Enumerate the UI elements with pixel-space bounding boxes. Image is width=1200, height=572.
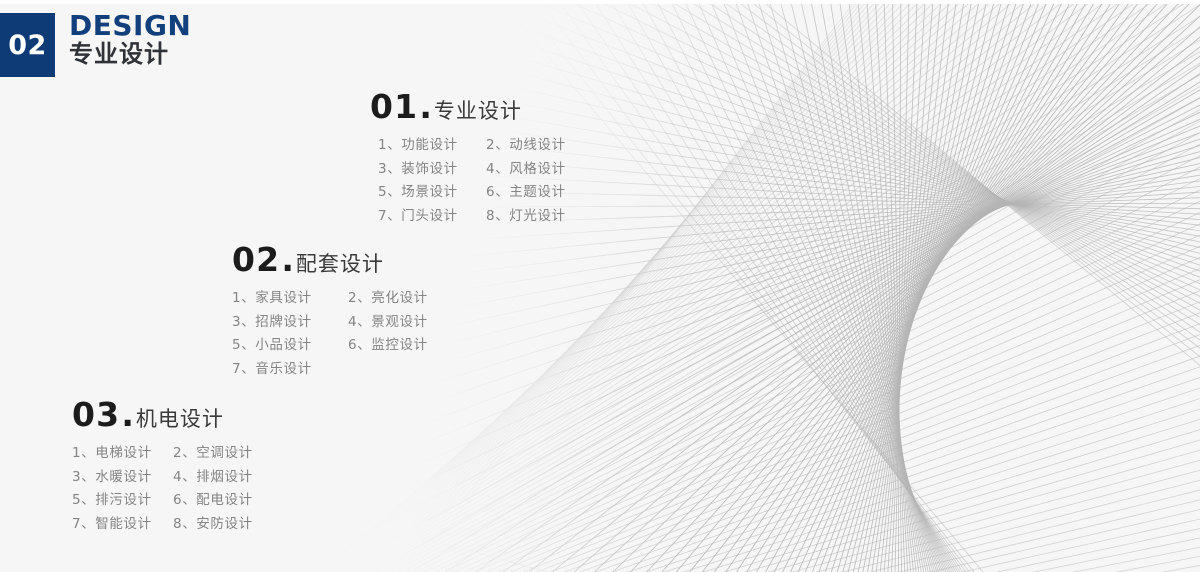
content-block-number: 01: [370, 90, 418, 123]
list-row: 7、智能设计 8、安防设计: [72, 513, 253, 537]
list-row: 1、功能设计 2、动线设计: [378, 134, 566, 158]
list-item: 7、音乐设计: [232, 358, 348, 382]
list-row: 5、小品设计 6、监控设计: [232, 334, 428, 358]
content-block-heading: 03 . 机电设计: [72, 398, 253, 431]
list-row: 1、电梯设计 2、空调设计: [72, 442, 253, 466]
list-item: 2、亮化设计: [348, 287, 428, 311]
list-row: 5、场景设计 6、主题设计: [378, 181, 566, 205]
list-item: 8、灯光设计: [486, 205, 566, 229]
list-item: 5、场景设计: [378, 181, 486, 205]
slide-canvas: 02 DESIGN 专业设计 01 . 专业设计 1、功能设计 2、动线设计 3…: [0, 0, 1200, 572]
list-item: 5、排污设计: [72, 489, 173, 513]
content-block-02: 02 . 配套设计 1、家具设计 2、亮化设计 3、招牌设计 4、景观设计 5、…: [232, 243, 428, 381]
list-row: 1、家具设计 2、亮化设计: [232, 287, 428, 311]
list-item: 4、风格设计: [486, 158, 566, 182]
content-block-list: 1、功能设计 2、动线设计 3、装饰设计 4、风格设计 5、场景设计 6、主题设…: [370, 134, 566, 228]
list-item: 3、水暖设计: [72, 466, 173, 490]
list-item: 5、小品设计: [232, 334, 348, 358]
content-block-separator: .: [419, 90, 432, 123]
section-header: 02 DESIGN 专业设计: [0, 13, 191, 77]
content-block-title: 配套设计: [296, 254, 384, 275]
list-item: 4、景观设计: [348, 311, 428, 335]
header-title-cn: 专业设计: [69, 41, 191, 69]
list-item: 6、监控设计: [348, 334, 428, 358]
content-block-list: 1、电梯设计 2、空调设计 3、水暖设计 4、排烟设计 5、排污设计 6、配电设…: [72, 442, 253, 536]
list-item: 7、门头设计: [378, 205, 486, 229]
content-block-heading: 01 . 专业设计: [370, 90, 566, 123]
list-row: 7、音乐设计: [232, 358, 428, 382]
content-block-list: 1、家具设计 2、亮化设计 3、招牌设计 4、景观设计 5、小品设计 6、监控设…: [232, 287, 428, 381]
section-number-badge-label: 02: [8, 32, 47, 59]
list-item: 3、招牌设计: [232, 311, 348, 335]
list-item: 7、智能设计: [72, 513, 173, 537]
content-block-03: 03 . 机电设计 1、电梯设计 2、空调设计 3、水暖设计 4、排烟设计 5、…: [72, 398, 253, 536]
header-title-group: DESIGN 专业设计: [69, 11, 191, 69]
list-item: 6、主题设计: [486, 181, 566, 205]
list-item: 2、动线设计: [486, 134, 566, 158]
content-block-number: 03: [72, 398, 120, 431]
top-edge-strip: [0, 0, 1200, 4]
list-item: 1、家具设计: [232, 287, 348, 311]
content-block-number: 02: [232, 243, 280, 276]
content-block-title: 专业设计: [434, 101, 522, 122]
list-item: 8、安防设计: [173, 513, 253, 537]
list-item: 1、功能设计: [378, 134, 486, 158]
list-row: 3、招牌设计 4、景观设计: [232, 311, 428, 335]
list-item: 1、电梯设计: [72, 442, 173, 466]
header-title-en: DESIGN: [69, 11, 191, 40]
list-row: 7、门头设计 8、灯光设计: [378, 205, 566, 229]
list-row: 3、水暖设计 4、排烟设计: [72, 466, 253, 490]
list-row: 3、装饰设计 4、风格设计: [378, 158, 566, 182]
list-row: 5、排污设计 6、配电设计: [72, 489, 253, 513]
section-number-badge: 02: [0, 13, 55, 77]
list-item: 3、装饰设计: [378, 158, 486, 182]
content-block-title: 机电设计: [136, 409, 224, 430]
list-item: 4、排烟设计: [173, 466, 253, 490]
list-item: 6、配电设计: [173, 489, 253, 513]
list-item: 2、空调设计: [173, 442, 253, 466]
content-block-separator: .: [121, 398, 134, 431]
content-block-01: 01 . 专业设计 1、功能设计 2、动线设计 3、装饰设计 4、风格设计 5、…: [370, 90, 566, 228]
content-block-heading: 02 . 配套设计: [232, 243, 428, 276]
content-block-separator: .: [281, 243, 294, 276]
